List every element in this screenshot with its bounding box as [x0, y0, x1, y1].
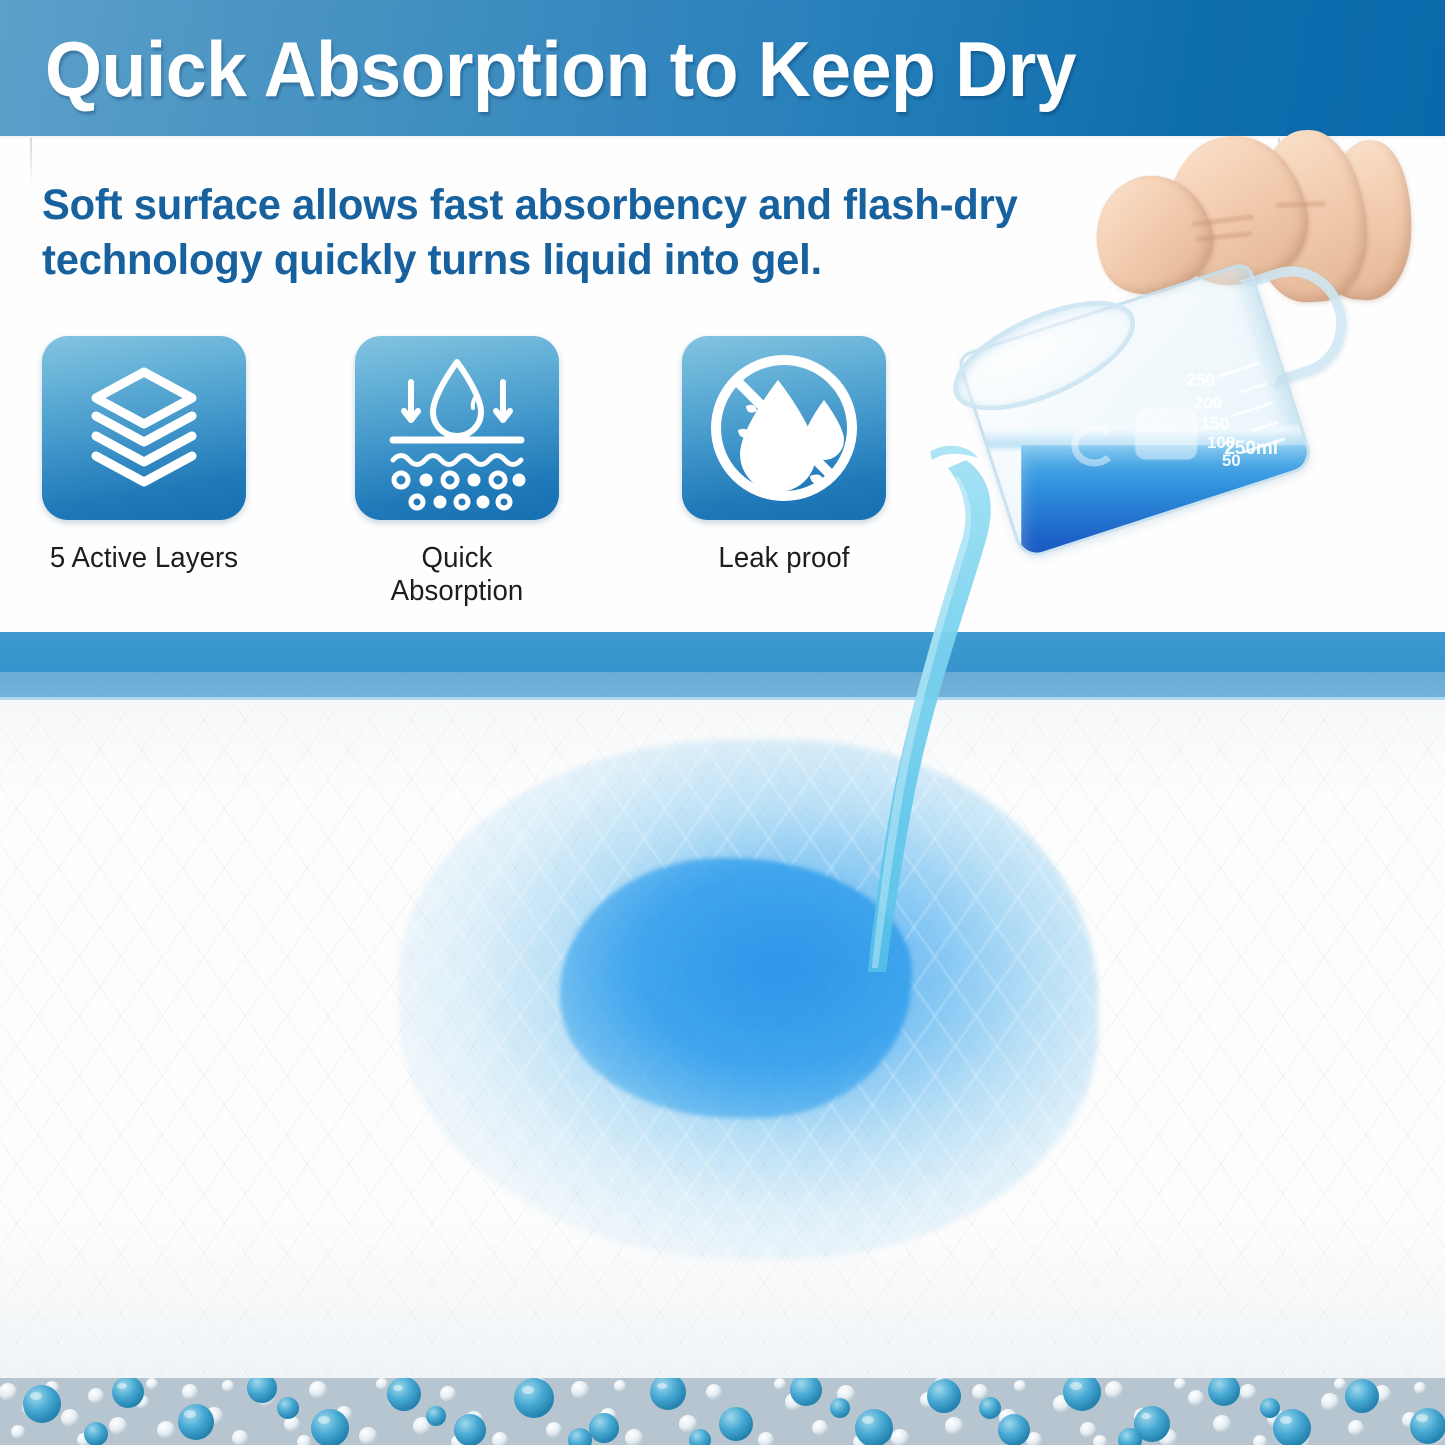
liquid-pool	[560, 858, 912, 1118]
feature-label: Leak proof	[687, 542, 881, 575]
graduation-mark	[1238, 382, 1267, 394]
product-infographic: Quick Absorption to Keep Dry Soft surfac…	[0, 0, 1445, 1445]
feature-tile	[682, 336, 886, 520]
beaker-logo	[1071, 424, 1117, 466]
page-title: Quick Absorption to Keep Dry	[45, 24, 1076, 115]
feature-item-absorption: Quick Absorption	[355, 336, 559, 520]
beaker-liquid	[1021, 445, 1315, 561]
graduation-label: 150	[1200, 414, 1228, 434]
no-water-droplets-icon	[682, 336, 886, 520]
layers-stack-icon	[42, 336, 246, 520]
feature-tile	[42, 336, 246, 520]
pad-blue-band	[0, 632, 1445, 672]
hand-pouring-beaker-photo: 250 200 150 100 50 250ml	[920, 136, 1445, 556]
feature-label: 5 Active Layers	[47, 542, 241, 575]
beads-graphic	[0, 1378, 1445, 1445]
pad-blue-band-lower	[0, 672, 1445, 697]
graduation-label: 200	[1194, 393, 1222, 413]
graduation-mark	[1231, 401, 1274, 417]
measuring-beaker: 250 200 150 100 50 250ml	[926, 225, 1349, 585]
graduation-label: 250	[1186, 371, 1214, 391]
water-drop-absorb-icon	[355, 336, 559, 520]
beaker-body: 250 200 150 100 50 250ml	[956, 261, 1316, 562]
pad-band-edge	[0, 697, 1445, 700]
header-banner: Quick Absorption to Keep Dry	[0, 0, 1445, 136]
subtitle-line-1: Soft surface allows fast absorbency and …	[42, 181, 1018, 229]
beaker-volume-label: 250ml	[1224, 438, 1278, 460]
graduation-mark	[1218, 361, 1261, 377]
feature-tile	[355, 336, 559, 520]
panel-left-edge	[30, 138, 32, 184]
feature-item-leakproof: Leak proof	[682, 336, 886, 520]
absorbent-gel-beads-strip	[0, 1378, 1445, 1445]
feature-item-layers: 5 Active Layers	[42, 336, 246, 520]
beaker-embossed-patch	[1135, 408, 1197, 460]
feature-label: Quick Absorption	[360, 542, 554, 608]
